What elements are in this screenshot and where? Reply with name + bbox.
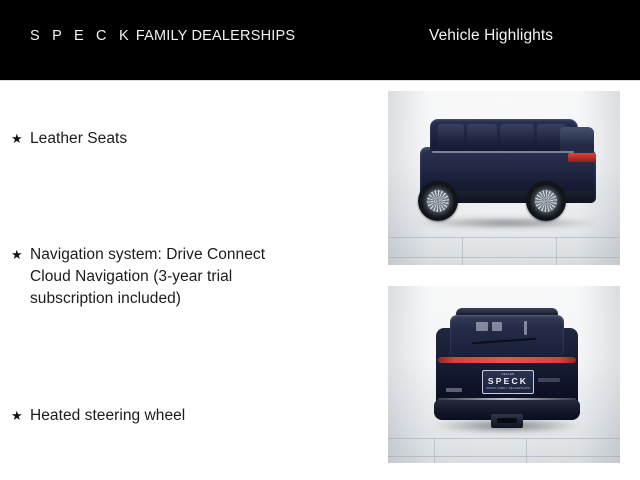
star-icon: ★ xyxy=(11,244,30,266)
license-plate-bottom-text: SPECK FAMILY DEALERSHIPS xyxy=(486,388,529,391)
window-reflection xyxy=(524,321,527,335)
license-plate: DEALER SPECK SPECK FAMILY DEALERSHIPS xyxy=(482,370,534,394)
list-item-line: Heated steering wheel xyxy=(30,405,361,427)
suv-illustration xyxy=(408,113,604,233)
slide-header: S P E C KFAMILY DEALERSHIPS Vehicle High… xyxy=(0,0,640,80)
license-plate-text: SPECK xyxy=(488,377,528,386)
wheel xyxy=(526,181,566,221)
window-glass xyxy=(438,124,464,146)
suv-illustration: DEALER SPECK SPECK FAMILY DEALERSHIPS xyxy=(432,302,582,434)
floor-line xyxy=(388,456,620,457)
vehicle-photo-rear-quarter xyxy=(388,91,620,265)
list-item: ★ Heated steering wheel xyxy=(11,405,361,427)
list-item: ★ Leather Seats xyxy=(11,128,361,150)
list-item-text: Navigation system: Drive Connect Cloud N… xyxy=(30,244,361,310)
page-title: Vehicle Highlights xyxy=(429,28,553,44)
floor-seam xyxy=(462,237,463,265)
floor-line xyxy=(388,438,620,439)
list-item-line: Cloud Navigation (3-year trial xyxy=(30,266,361,288)
vehicle-photo-rear: DEALER SPECK SPECK FAMILY DEALERSHIPS xyxy=(388,286,620,463)
floor-seam xyxy=(556,237,557,265)
list-item-line: Leather Seats xyxy=(30,128,361,150)
beltline-trim xyxy=(432,151,574,153)
floor-seam xyxy=(434,438,435,463)
floor-line xyxy=(388,257,620,258)
taillight xyxy=(568,153,596,162)
star-icon: ★ xyxy=(11,405,30,427)
brand-subtitle: FAMILY DEALERSHIPS xyxy=(136,28,295,44)
window-glass xyxy=(500,124,534,146)
trim-badge xyxy=(538,378,560,382)
tow-hitch xyxy=(491,414,523,428)
window-glass xyxy=(467,124,497,146)
list-item-line: subscription included) xyxy=(30,288,361,310)
rear-window xyxy=(450,315,564,355)
list-item: ★ Navigation system: Drive Connect Cloud… xyxy=(11,244,361,310)
taillight-bar xyxy=(438,357,576,363)
list-item-line: Navigation system: Drive Connect xyxy=(30,244,361,266)
liftgate-glass xyxy=(560,127,594,153)
wheel xyxy=(418,181,458,221)
model-badge xyxy=(446,388,462,392)
slide-root: S P E C KFAMILY DEALERSHIPS Vehicle High… xyxy=(0,0,640,480)
brand-lockup: S P E C KFAMILY DEALERSHIPS xyxy=(30,29,295,44)
highlights-list: ★ Leather Seats ★ Navigation system: Dri… xyxy=(0,80,375,480)
list-item-text: Heated steering wheel xyxy=(30,405,361,427)
star-icon: ★ xyxy=(11,128,30,150)
brand-mark: S P E C K xyxy=(30,28,133,44)
floor-seam xyxy=(526,438,527,463)
list-item-text: Leather Seats xyxy=(30,128,361,150)
window-reflection xyxy=(492,322,502,331)
floor-line xyxy=(388,237,620,238)
window-reflection xyxy=(476,322,488,331)
